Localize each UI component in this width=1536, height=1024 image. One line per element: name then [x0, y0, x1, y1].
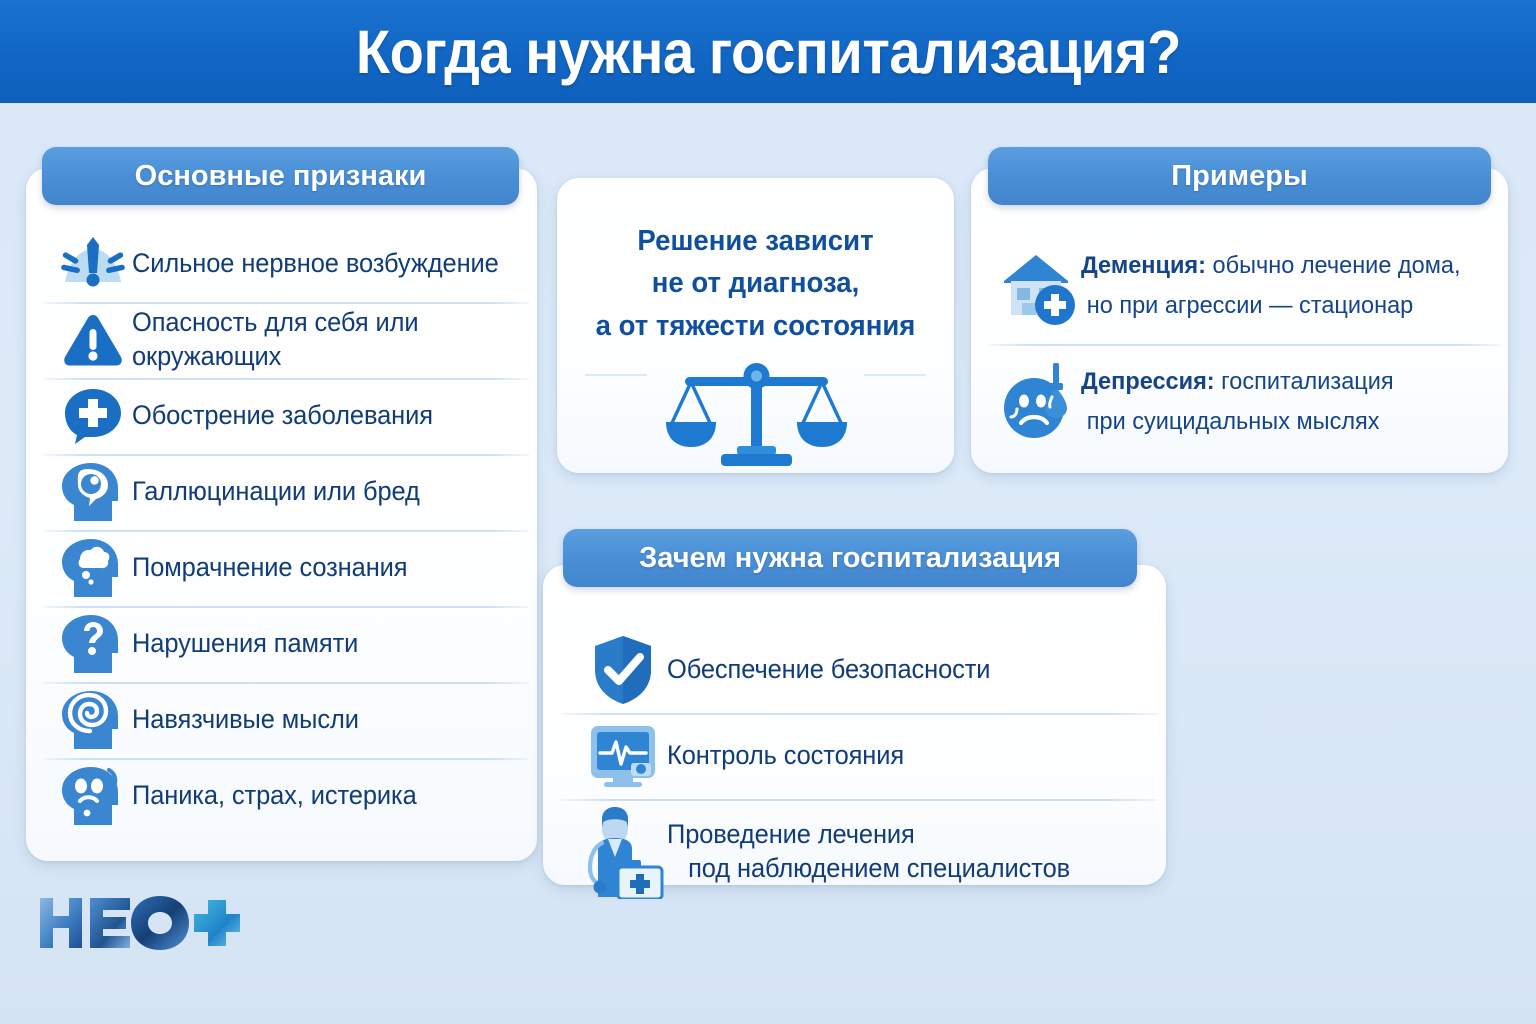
list-item[interactable]: Обеспечение безопасности	[543, 627, 1166, 713]
purpose-label-line-2: под наблюдением специалистов	[667, 852, 1070, 886]
example-second-line: при суицидальных мыслях	[1081, 402, 1394, 442]
list-item-label: Помрачнение сознания	[132, 551, 407, 585]
decision-quote-card: Решение зависит не от диагноза, а от тяж…	[557, 178, 954, 473]
example-bold-label: Депрессия:	[1081, 368, 1215, 395]
list-item[interactable]: Контроль состояния	[543, 713, 1166, 799]
list-item[interactable]: Проведение лечения под наблюдением специ…	[543, 799, 1166, 905]
main-signs-title: Основные признаки	[135, 160, 427, 193]
list-item[interactable]: Галлюцинации или бред	[26, 454, 537, 530]
speech-bubble-cross-icon	[54, 385, 132, 447]
example-text: Деменция: обычно лечение дома, но при аг…	[1081, 246, 1461, 325]
shield-check-icon	[579, 632, 667, 708]
purpose-header-pill: Зачем нужна госпитализация	[563, 529, 1137, 587]
list-item[interactable]: Опасность для себя или окружающих	[26, 302, 537, 378]
purpose-list: Обеспечение безопасности Контроль состоя…	[543, 627, 1166, 905]
list-item-label: Обеспечение безопасности	[667, 653, 990, 687]
example-second-line: но при агрессии — стационар	[1081, 286, 1461, 326]
list-item[interactable]: Нарушения памяти	[26, 606, 537, 682]
example-text: Депрессия: госпитализация при суицидальн…	[1081, 362, 1394, 441]
list-item[interactable]: Навязчивые мысли	[26, 682, 537, 758]
main-signs-list: Сильное нервное возбуждение Опасность дл…	[26, 226, 537, 834]
list-item-label: Проведение лечения под наблюдением специ…	[667, 818, 1070, 886]
justice-scales-icon	[557, 355, 954, 467]
neo-plus-logo	[36, 890, 246, 954]
head-eye-icon	[54, 461, 132, 523]
list-item[interactable]: Обострение заболевания	[26, 378, 537, 454]
purpose-card: Обеспечение безопасности Контроль состоя…	[543, 565, 1166, 885]
example-rest-label: госпитализация	[1215, 368, 1394, 395]
list-item-label: Обострение заболевания	[132, 399, 433, 433]
purpose-title: Зачем нужна госпитализация	[639, 542, 1061, 575]
quote-line-2: не от диагноза,	[567, 262, 944, 304]
list-item[interactable]: Сильное нервное возбуждение	[26, 226, 537, 302]
example-bold-label: Деменция:	[1081, 252, 1206, 279]
example-rest-label: обычно лечение дома,	[1206, 252, 1461, 279]
main-signs-card: Сильное нервное возбуждение Опасность дл…	[26, 168, 537, 861]
list-item[interactable]: Помрачнение сознания	[26, 530, 537, 606]
list-item-label: Паника, страх, истерика	[132, 779, 417, 813]
exclamation-burst-icon	[54, 233, 132, 295]
head-question-icon	[54, 613, 132, 675]
list-item[interactable]: Паника, страх, истерика	[26, 758, 537, 834]
list-item[interactable]: Деменция: обычно лечение дома, но при аг…	[971, 228, 1508, 344]
list-item-label: Нарушения памяти	[132, 627, 358, 661]
page-title: Когда нужна госпитализация?	[355, 17, 1180, 87]
list-item-label: Опасность для себя или окружающих	[132, 306, 521, 374]
sad-face-teardrop-icon	[995, 359, 1081, 445]
quote-line-3: а от тяжести состояния	[567, 305, 944, 347]
examples-header-pill: Примеры	[988, 147, 1491, 205]
purpose-label-line-1: Проведение лечения	[667, 819, 915, 849]
main-signs-header-pill: Основные признаки	[42, 147, 519, 205]
list-item-label: Галлюцинации или бред	[132, 475, 420, 509]
header-banner: Когда нужна госпитализация?	[0, 0, 1536, 103]
list-item-label: Сильное нервное возбуждение	[132, 247, 499, 281]
quote-line-1: Решение зависит	[567, 220, 944, 262]
decision-quote: Решение зависит не от диагноза, а от тяж…	[567, 220, 944, 347]
list-item[interactable]: Депрессия: госпитализация при суицидальн…	[971, 344, 1508, 460]
infographic-canvas: Когда нужна госпитализация? Сильное не	[0, 0, 1536, 1024]
head-spiral-icon	[54, 689, 132, 751]
ecg-monitor-icon	[579, 718, 667, 794]
examples-list: Деменция: обычно лечение дома, но при аг…	[971, 228, 1508, 460]
examples-card: Деменция: обычно лечение дома, но при аг…	[971, 168, 1508, 473]
head-panic-face-icon	[54, 765, 132, 827]
list-item-label: Навязчивые мысли	[132, 703, 359, 737]
warning-triangle-icon	[54, 309, 132, 371]
head-cloud-icon	[54, 537, 132, 599]
doctor-medkit-icon	[579, 804, 667, 900]
list-item-label: Контроль состояния	[667, 739, 904, 773]
examples-title: Примеры	[1171, 160, 1307, 193]
house-medical-cross-icon	[995, 243, 1081, 329]
